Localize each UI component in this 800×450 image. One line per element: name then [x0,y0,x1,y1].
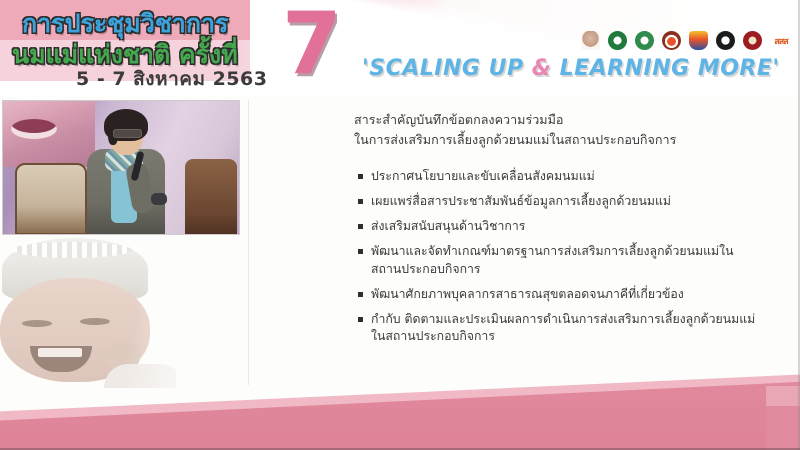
list-item-label: ส่งเสริมสนับสนุนด้านวิชาการ [371,218,525,236]
logo-royal-crest-icon [687,24,709,50]
list-item-label: เผยแพร่สื่อสารประชาสัมพันธ์ข้อมูลการเลี้… [371,193,671,211]
logo-mark [716,31,735,50]
logo-mark [743,31,762,50]
list-item-label: ประกาศนโยบายและขับเคลื่อนสังคมนมแม่ [371,168,595,186]
tagline-prefix: 'SCALING UP [362,56,532,81]
presentation-slide: 7 การประชุมวิชาการ นมแม่แห่งชาติ ครั้งที… [0,0,800,450]
logo-mark [689,31,708,50]
list-item-label: พัฒนาศักยภาพบุคลากรสาธารณสุขตลอดจนภาคีที… [371,286,684,304]
slide-heading: สาระสำคัญบันทึกข้อตกลงความร่วมมือ ในการส… [354,110,754,150]
slide-heading-line1: สาระสำคัญบันทึกข้อตกลงความร่วมมือ [354,110,754,130]
list-item-label: กำกับ ติดตามและประเมินผลการดำเนินการส่งเ… [371,311,758,346]
square-bullet-icon [358,199,363,204]
list-item: เผยแพร่สื่อสารประชาสัมพันธ์ข้อมูลการเลี้… [358,193,758,211]
logo-ministry-public-health-green-icon [606,24,628,50]
slide-heading-line2: ในการส่งเสริมการเลี้ยงลูกด้วยนมแม่ในสถาน… [354,130,754,150]
logo-mark [581,31,600,50]
logo-mark [635,31,654,50]
list-item-label: พัฒนาและจัดทำเกณฑ์มาตรฐานการส่งเสริมการเ… [371,243,758,278]
logo-mark [608,31,627,50]
sponsor-logo-row: สสส [579,24,794,50]
bullet-list: ประกาศนโยบายและขับเคลื่อนสังคมนมแม่ เผยแ… [358,168,758,353]
square-bullet-icon [358,174,363,179]
logo-mark [662,31,681,50]
armchair-left [15,163,87,235]
logo-crimson-crest-icon [741,24,763,50]
list-item: พัฒนาและจัดทำเกณฑ์มาตรฐานการส่งเสริมการเ… [358,243,758,278]
list-item: พัฒนาศักยภาพบุคลากรสาธารณสุขตลอดจนภาคีที… [358,286,758,304]
edition-number: 7 [282,0,340,94]
logo-royal-patronage-icon [579,24,601,50]
list-item: ประกาศนโยบายและขับเคลื่อนสังคมนมแม่ [358,168,758,186]
square-bullet-icon [358,224,363,229]
speaker-video [2,100,240,235]
logo-black-emblem-icon [714,24,736,50]
video-backdrop-poster [3,101,95,167]
square-bullet-icon [358,317,363,322]
logo-health-department-green-icon [633,24,655,50]
slide-content: สาระสำคัญบันทึกข้อตกลงความร่วมมือ ในการส… [258,100,770,390]
watermark-fade-overlay [0,238,260,390]
wave-corner-dark [766,406,800,450]
wave-corner-light [766,386,800,450]
tagline-ampersand: & [532,56,552,81]
square-bullet-icon [358,292,363,297]
conference-dates: 5 - 7 สิงหาคม 2563 [76,64,267,94]
square-bullet-icon [358,249,363,254]
armchair-right [185,159,237,235]
tagline-suffix: LEARNING MORE' [551,56,779,81]
list-item: ส่งเสริมสนับสนุนด้านวิชาการ [358,218,758,236]
speaker-hand-clicker [151,193,167,205]
conference-banner: 7 การประชุมวิชาการ นมแม่แห่งชาติ ครั้งที… [0,0,800,95]
list-item: กำกับ ติดตามและประเมินผลการดำเนินการส่งเ… [358,311,758,346]
logo-thai-emblem-red-icon [660,24,682,50]
conference-tagline: 'SCALING UP & LEARNING MORE' [362,56,780,81]
logo-mark: สสส [768,31,794,50]
speaker-glasses [113,129,142,138]
content-divider [248,100,249,385]
logo-thaihealth-icon: สสส [768,24,794,50]
